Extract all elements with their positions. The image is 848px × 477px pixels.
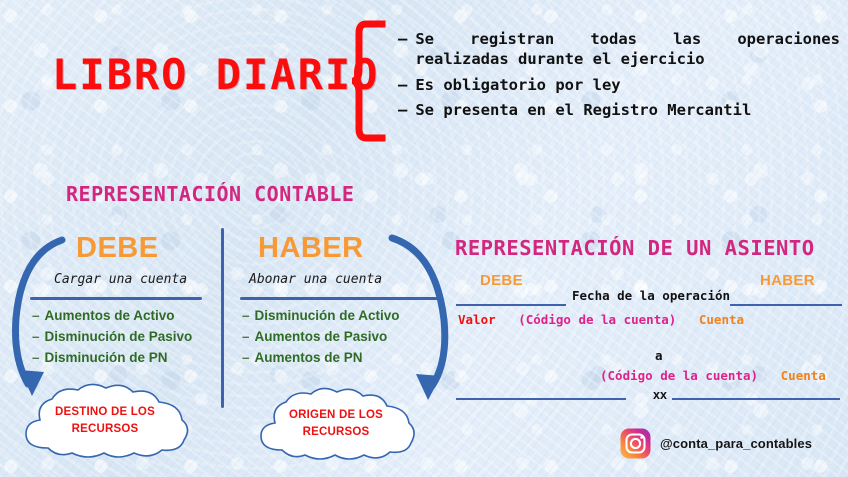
instagram-icon[interactable]	[620, 428, 651, 459]
list-item-label: Aumentos de PN	[255, 350, 363, 365]
bullet-word: las	[673, 30, 701, 50]
bullet-item-2: – Es obligatorio por ley	[398, 76, 840, 96]
cloud-destino-line1: DESTINO DE LOS	[55, 404, 155, 421]
journal-bottom-rule-left	[456, 398, 626, 400]
cloud-origen-line1: ORIGEN DE LOS	[289, 407, 383, 424]
t-account-vertical-divider	[221, 228, 224, 408]
journal-row2-cuenta: Cuenta	[781, 368, 826, 383]
journal-row1-valor: Valor	[458, 312, 496, 327]
journal-haber-label: HABER	[760, 272, 815, 289]
bullet-item-2-text: Es obligatorio por ley	[415, 76, 620, 96]
journal-entry-row-1: Valor (Código de la cuenta) Cuenta	[458, 312, 744, 327]
bullet-dash: –	[398, 101, 407, 121]
section-heading-representacion-contable: REPRESENTACIÓN CONTABLE	[66, 182, 354, 206]
infographic-canvas: LIBRO DIARIO – Se registran todas las op…	[0, 0, 848, 477]
list-item: –Aumentos de Pasivo	[242, 329, 400, 344]
journal-row1-codigo: (Código de la cuenta)	[518, 312, 676, 327]
journal-a-connector: a	[655, 348, 663, 363]
list-dash: –	[242, 329, 250, 344]
bullet-word: Se	[415, 30, 434, 50]
bullet-dash: –	[398, 30, 407, 50]
journal-entry-row-2: (Código de la cuenta) Cuenta Valor	[600, 368, 848, 383]
list-item: –Aumentos de PN	[242, 350, 400, 365]
cloud-destino-line2: RECURSOS	[72, 421, 139, 438]
cloud-destino-text: DESTINO DE LOS RECURSOS	[14, 382, 196, 460]
cloud-destino-de-los-recursos: DESTINO DE LOS RECURSOS	[14, 382, 196, 460]
bullet-item-1: – Se registran todas las operaciones rea…	[398, 30, 840, 70]
red-brace-icon	[352, 20, 386, 142]
journal-row2-codigo: (Código de la cuenta)	[600, 368, 758, 383]
list-dash: –	[242, 350, 250, 365]
cloud-origen-de-los-recursos: ORIGEN DE LOS RECURSOS	[250, 386, 422, 462]
haber-subtitle: Abonar una cuenta	[249, 272, 382, 287]
journal-closing-marker: xx	[653, 388, 667, 402]
list-item-label: Aumentos de Pasivo	[255, 329, 388, 344]
bullet-item-1-line2: realizadas durante el ejercicio	[415, 50, 840, 70]
instagram-handle[interactable]: @conta_para_contables	[660, 436, 812, 451]
cloud-origen-line2: RECURSOS	[303, 424, 370, 441]
debe-title: DEBE	[76, 232, 159, 265]
bullet-item-3-text: Se presenta en el Registro Mercantil	[415, 101, 751, 121]
haber-title: HABER	[258, 232, 364, 265]
bullet-list: – Se registran todas las operaciones rea…	[398, 30, 840, 126]
list-dash: –	[242, 308, 250, 323]
instagram-credit[interactable]: @conta_para_contables	[620, 428, 812, 459]
journal-bottom-rule-right	[672, 398, 840, 400]
bullet-word: registran	[470, 30, 554, 50]
section-heading-representacion-asiento: REPRESENTACIÓN DE UN ASIENTO	[455, 236, 815, 260]
debe-subtitle: Cargar una cuenta	[54, 272, 187, 287]
journal-fecha-label: Fecha de la operación	[572, 288, 730, 303]
bullet-word: todas	[590, 30, 637, 50]
bullet-dash: –	[398, 76, 407, 96]
page-title: LIBRO DIARIO	[52, 50, 379, 99]
haber-item-list: –Disminución de Activo –Aumentos de Pasi…	[242, 308, 400, 371]
bullet-word: operaciones	[737, 30, 840, 50]
list-item-label: Disminución de Activo	[255, 308, 400, 323]
bullet-item-1-text: Se registran todas las operaciones reali…	[415, 30, 840, 70]
list-item: –Disminución de Activo	[242, 308, 400, 323]
journal-row1-cuenta: Cuenta	[699, 312, 744, 327]
journal-top-rule-left	[456, 304, 566, 306]
journal-top-rule-right	[730, 304, 842, 306]
curved-arrow-haber-to-origen-icon	[386, 228, 458, 412]
cloud-origen-text: ORIGEN DE LOS RECURSOS	[250, 386, 422, 462]
journal-debe-label: DEBE	[480, 272, 523, 289]
bullet-item-3: – Se presenta en el Registro Mercantil	[398, 101, 840, 121]
